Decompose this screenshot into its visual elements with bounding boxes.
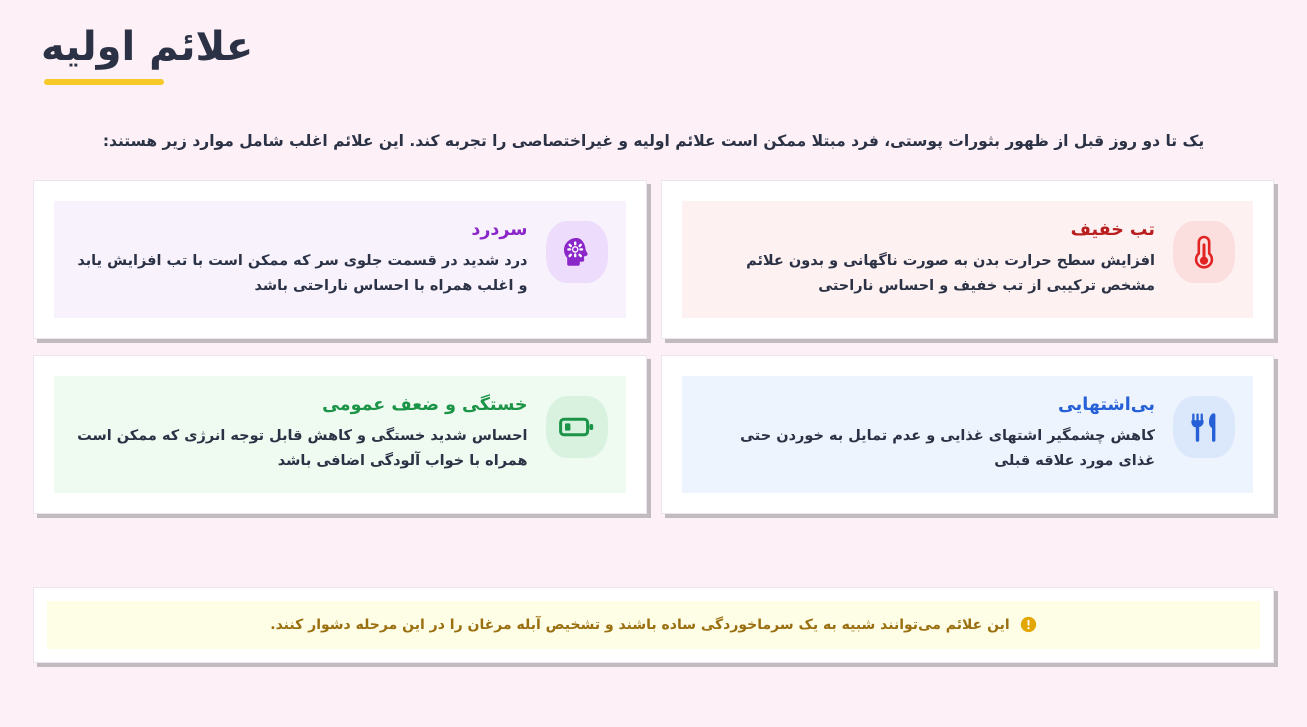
head-gear-icon	[560, 236, 594, 268]
title-underline	[44, 79, 164, 85]
symptom-card-fatigue[interactable]: خستگی و ضعف عمومی احساس شدید خستگی و کاه…	[33, 355, 647, 514]
intro-paragraph: یک تا دو روز قبل از ظهور بثورات پوستی، ف…	[33, 85, 1274, 154]
thermometer-icon-badge	[1173, 221, 1235, 283]
symptom-card-appetite-text: بی‌اشتهایی کاهش چشمگیر اشتهای غذایی و عد…	[700, 392, 1156, 475]
symptom-card-fever-panel: تب خفیف افزایش سطح حرارت بدن به صورت ناگ…	[682, 201, 1254, 318]
page-title: علائم اولیه	[41, 22, 253, 72]
symptom-card-fatigue-title: خستگی و ضعف عمومی	[72, 392, 528, 418]
symptom-card-fever-description: افزایش سطح حرارت بدن به صورت ناگهانی و ب…	[700, 249, 1156, 300]
head-gear-icon-badge	[546, 221, 608, 283]
footer-note-panel: این علائم می‌توانند شبیه به یک سرماخوردگ…	[47, 601, 1260, 649]
footer-note-card: این علائم می‌توانند شبیه به یک سرماخوردگ…	[33, 587, 1274, 663]
symptom-card-fatigue-text: خستگی و ضعف عمومی احساس شدید خستگی و کاه…	[72, 392, 528, 475]
symptom-card-fever[interactable]: تب خفیف افزایش سطح حرارت بدن به صورت ناگ…	[661, 180, 1275, 339]
symptom-card-fever-text: تب خفیف افزایش سطح حرارت بدن به صورت ناگ…	[700, 217, 1156, 300]
symptom-card-fatigue-description: احساس شدید خستگی و کاهش قابل توجه انرژی …	[72, 424, 528, 475]
symptom-card-headache-description: درد شدید در قسمت جلوی سر که ممکن است با …	[72, 249, 528, 300]
symptom-card-headache-text: سردرد درد شدید در قسمت جلوی سر که ممکن ا…	[72, 217, 528, 300]
low-battery-icon-badge	[546, 396, 608, 458]
symptom-card-grid: تب خفیف افزایش سطح حرارت بدن به صورت ناگ…	[33, 180, 1274, 514]
symptom-card-appetite-title: بی‌اشتهایی	[700, 392, 1156, 418]
symptom-card-appetite-description: کاهش چشمگیر اشتهای غذایی و عدم تمایل به …	[700, 424, 1156, 475]
page-header-inner: علائم اولیه	[41, 22, 253, 85]
page-header: علائم اولیه	[33, 0, 1274, 22]
thermometer-icon	[1189, 235, 1219, 269]
page-root: علائم اولیه یک تا دو روز قبل از ظهور بثو…	[0, 0, 1307, 727]
symptom-card-appetite[interactable]: بی‌اشتهایی کاهش چشمگیر اشتهای غذایی و عد…	[661, 355, 1275, 514]
fork-knife-icon-badge	[1173, 396, 1235, 458]
symptom-card-appetite-panel: بی‌اشتهایی کاهش چشمگیر اشتهای غذایی و عد…	[682, 376, 1254, 493]
symptom-card-headache-title: سردرد	[72, 217, 528, 243]
low-battery-icon	[559, 415, 595, 439]
footer-note-text: این علائم می‌توانند شبیه به یک سرماخوردگ…	[270, 614, 1009, 636]
symptom-card-headache-panel: سردرد درد شدید در قسمت جلوی سر که ممکن ا…	[54, 201, 626, 318]
symptom-card-headache[interactable]: سردرد درد شدید در قسمت جلوی سر که ممکن ا…	[33, 180, 647, 339]
fork-knife-icon	[1189, 411, 1219, 443]
warning-circle-icon	[1020, 616, 1037, 633]
symptom-card-fatigue-panel: خستگی و ضعف عمومی احساس شدید خستگی و کاه…	[54, 376, 626, 493]
symptom-card-fever-title: تب خفیف	[700, 217, 1156, 243]
